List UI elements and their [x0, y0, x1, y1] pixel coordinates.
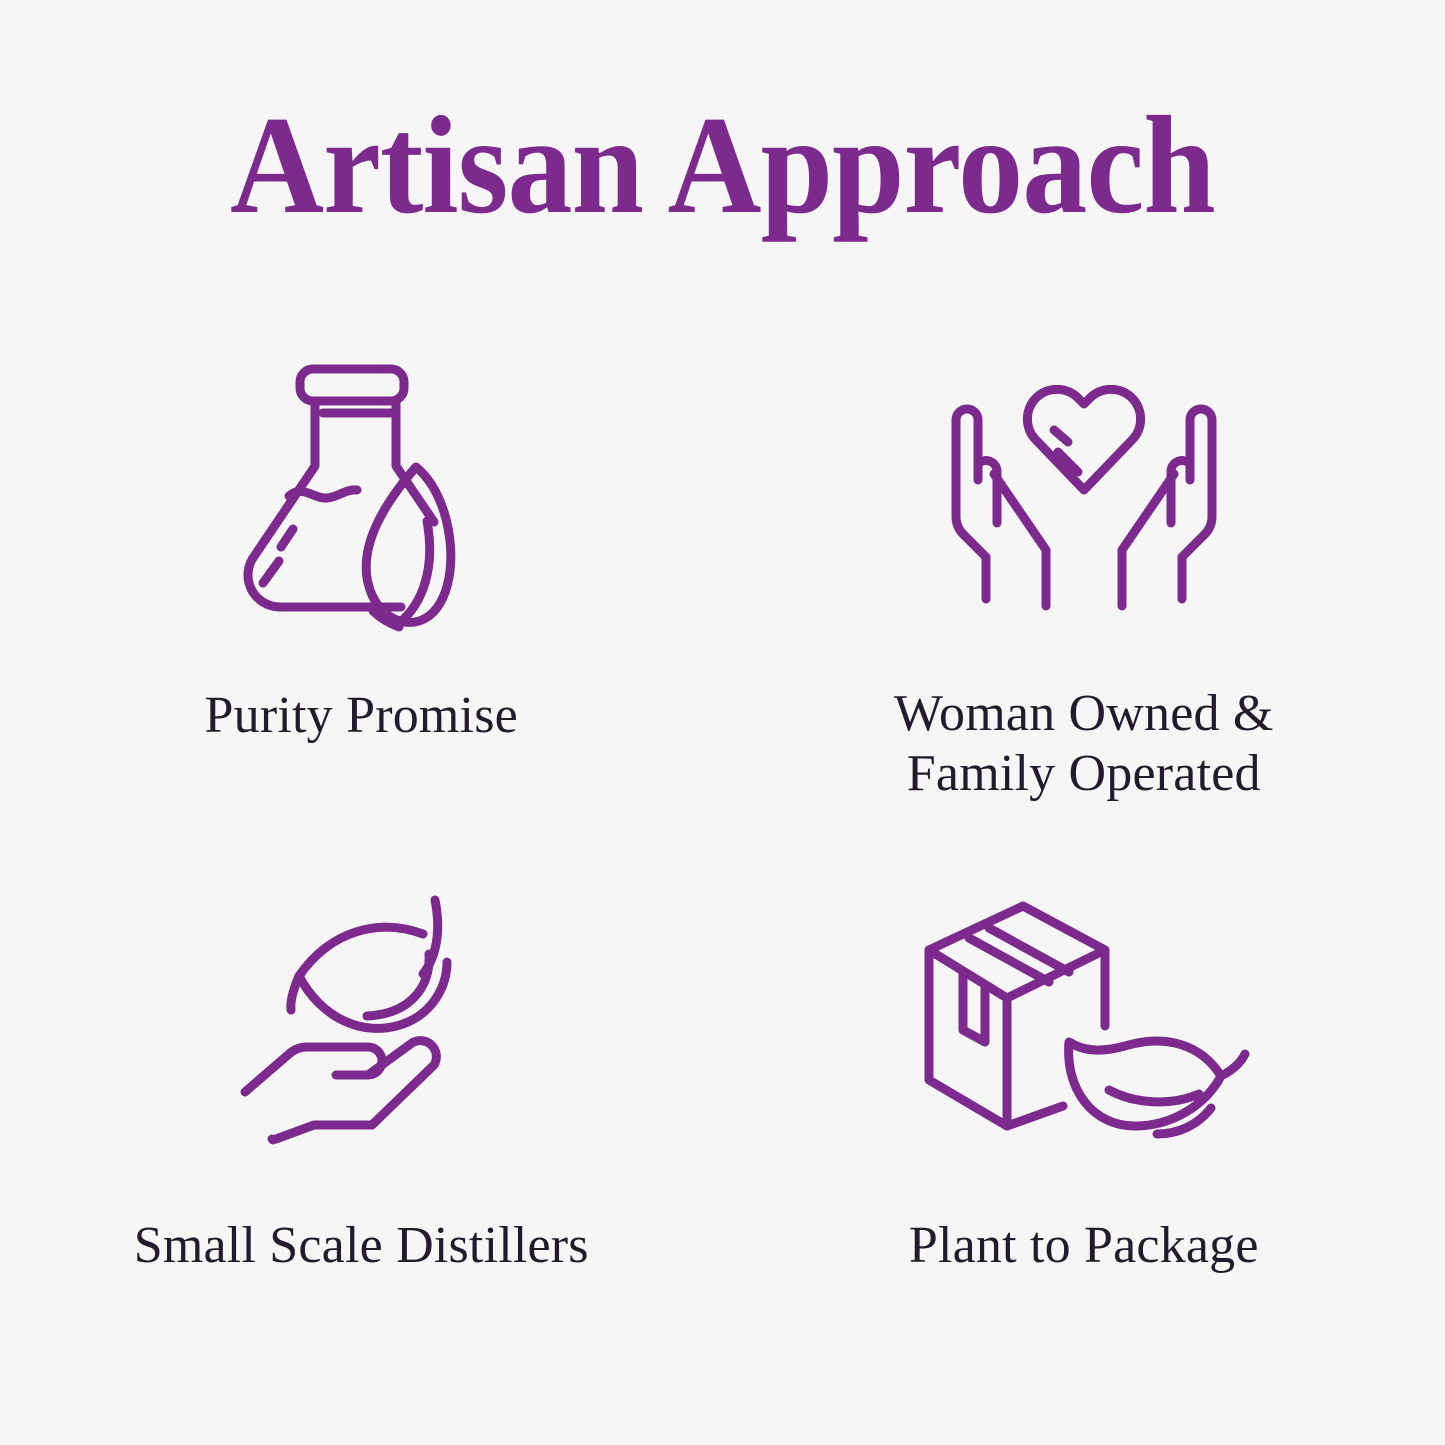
feature-grid: Purity Promise [0, 330, 1445, 1370]
flask-leaf-icon [196, 344, 526, 644]
leaf-in-open-hand-icon [196, 870, 526, 1170]
package-box-leaf-icon [919, 872, 1249, 1172]
artisan-approach-graphic: Artisan Approach [0, 0, 1445, 1445]
page-title-container: Artisan Approach [0, 96, 1445, 236]
feature-item-purity-promise: Purity Promise [0, 330, 723, 850]
feature-item-woman-owned: Woman Owned & Family Operated [723, 330, 1445, 850]
hands-holding-heart-icon [919, 348, 1249, 648]
feature-item-small-scale-distillers: Small Scale Distillers [0, 850, 723, 1370]
feature-label-woman-owned: Woman Owned & Family Operated [894, 684, 1274, 805]
feature-label-plant-to-package: Plant to Package [909, 1216, 1259, 1276]
page-title: Artisan Approach [230, 96, 1215, 236]
feature-label-small-scale-distillers: Small Scale Distillers [134, 1216, 589, 1276]
feature-label-purity-promise: Purity Promise [205, 686, 518, 746]
feature-item-plant-to-package: Plant to Package [723, 850, 1445, 1370]
